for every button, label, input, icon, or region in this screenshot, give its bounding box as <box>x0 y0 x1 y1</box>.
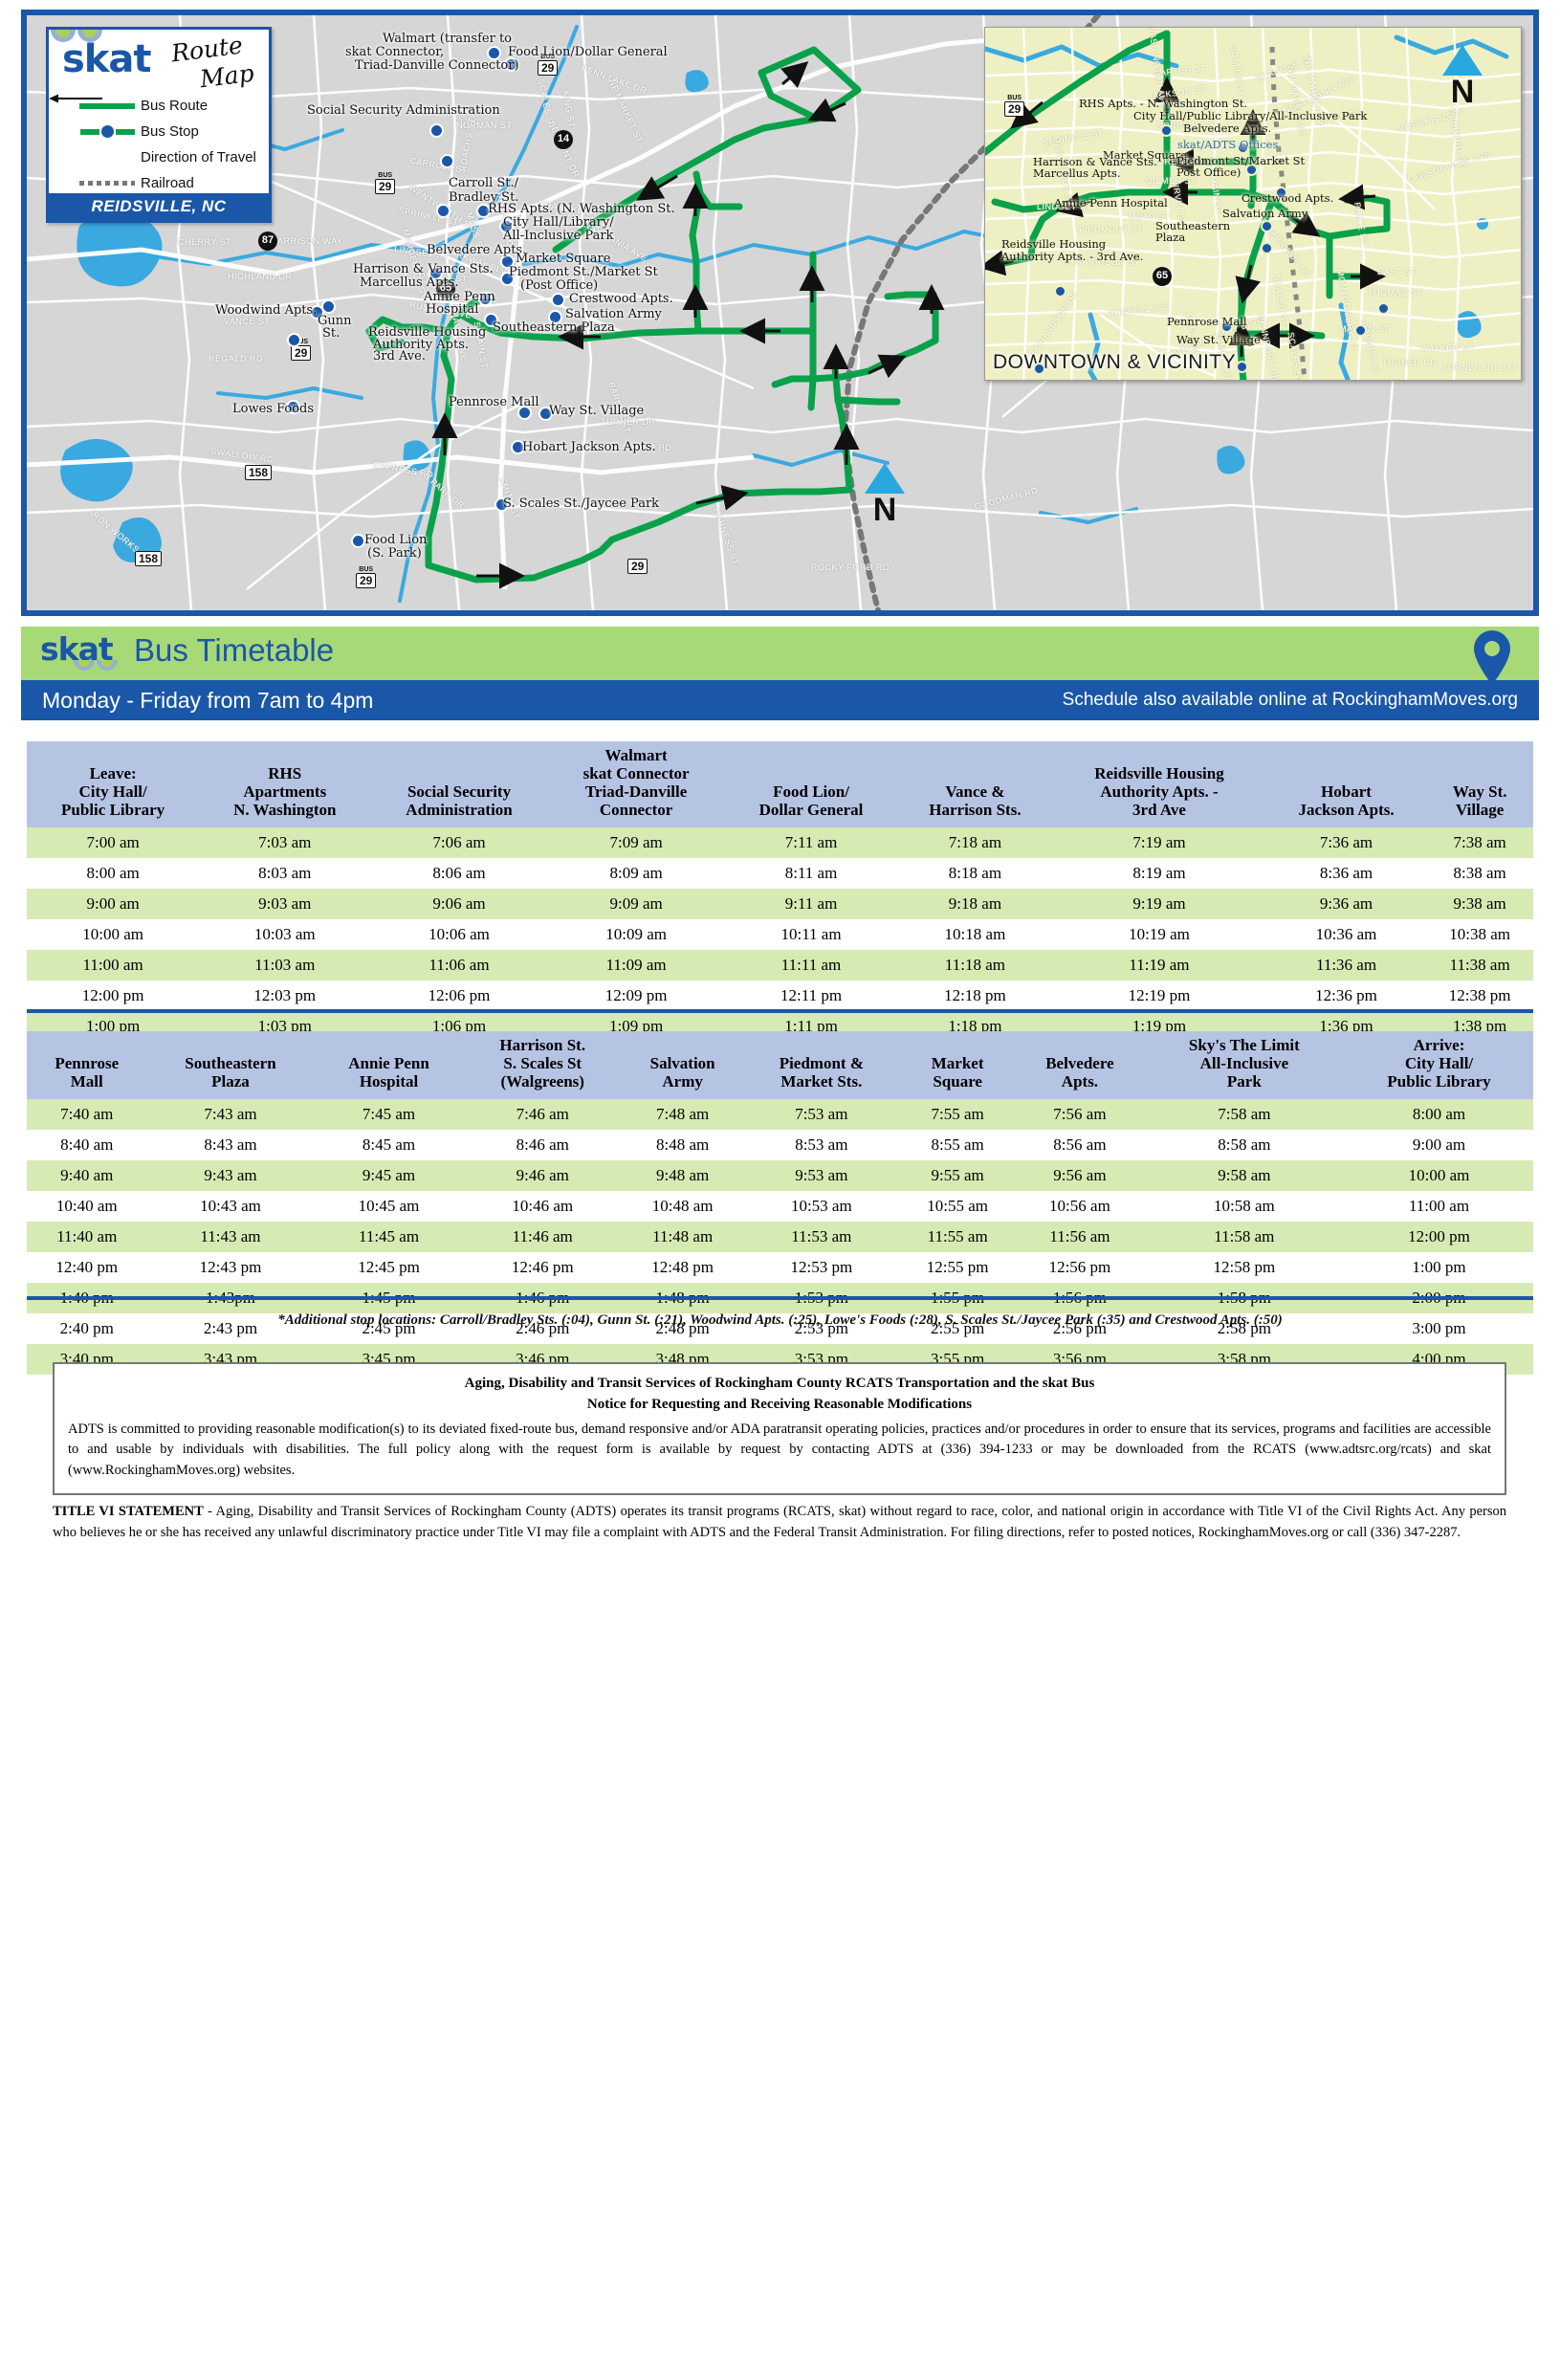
map-place-label: Salvation Army <box>565 308 662 321</box>
time-cell: 9:55 am <box>899 1160 1016 1191</box>
map-place-label: Marcellus Apts. <box>360 276 458 290</box>
time-cell: 7:09 am <box>548 827 725 858</box>
map-place-label: Harrison & Vance Sts. <box>353 263 494 276</box>
map-place-label: Walmart (transfer to <box>383 33 512 46</box>
north-letter: N <box>865 494 905 526</box>
time-cell: 8:58 am <box>1144 1130 1345 1160</box>
column-header: SoutheasternPlaza <box>147 1031 315 1099</box>
time-cell: 7:36 am <box>1266 827 1427 858</box>
time-cell: 11:53 am <box>744 1222 900 1252</box>
north-arrow-inset: N <box>1442 45 1483 108</box>
inset-place-label: Authority Apts. - 3rd Ave. <box>1001 251 1143 262</box>
inset-place-label: Way St. Village <box>1176 334 1261 345</box>
time-cell: 9:03 am <box>199 889 370 919</box>
time-cell: 9:00 am <box>1345 1130 1533 1160</box>
railroad-dotted-icon <box>74 181 141 186</box>
north-arrow-main: N <box>865 463 905 526</box>
time-cell: 9:00 am <box>27 889 199 919</box>
time-cell: 8:45 am <box>314 1130 463 1160</box>
column-header: Annie PennHospital <box>314 1031 463 1099</box>
column-header: RHSApartmentsN. Washington <box>199 741 370 827</box>
time-cell: 7:03 am <box>199 827 370 858</box>
time-cell: 10:09 am <box>548 919 725 950</box>
time-cell: 9:43 am <box>147 1160 315 1191</box>
time-cell: 11:40 am <box>27 1222 147 1252</box>
inset-stop-salvation-army[interactable] <box>1354 324 1367 337</box>
time-cell: 12:53 pm <box>744 1252 900 1283</box>
time-cell: 12:58 pm <box>1144 1252 1345 1283</box>
map-place-label: Hobart Jackson Apts. <box>522 441 656 454</box>
time-cell: 7:58 am <box>1144 1099 1345 1130</box>
time-cell: 11:00 am <box>27 950 199 981</box>
time-cell: 12:45 pm <box>314 1252 463 1283</box>
time-cell: 8:18 am <box>898 858 1053 889</box>
time-cell: 10:48 am <box>622 1191 744 1222</box>
time-cell: 12:56 pm <box>1016 1252 1144 1283</box>
column-header: Piedmont &Market Sts. <box>744 1031 900 1099</box>
map-place-label: (Post Office) <box>520 279 598 293</box>
map-place-label: City Hall/Library/ <box>503 216 614 230</box>
street-name-label: TURNER DR <box>601 417 656 427</box>
time-cell: 8:19 am <box>1052 858 1266 889</box>
time-cell: 9:58 am <box>1144 1160 1345 1191</box>
column-header: Vance &Harrison Sts. <box>898 741 1053 827</box>
timetable-subtitle-bar: Monday - Friday from 7am to 4pm Schedule… <box>21 680 1539 720</box>
map-place-label: Lowes Foods <box>232 403 314 416</box>
route-shield-nc29b: 29 <box>627 559 648 574</box>
time-cell: 7:53 am <box>744 1099 900 1130</box>
skat-logo-dots-icon-2 <box>72 660 120 679</box>
table-row: 9:00 am9:03 am9:06 am9:09 am9:11 am9:18 … <box>27 889 1533 919</box>
time-cell: 7:43 am <box>147 1099 315 1130</box>
map-place-label: 3rd Ave. <box>373 350 426 364</box>
route-shield-nc14: 14 <box>554 130 573 149</box>
map-place-label: St. <box>322 327 340 341</box>
column-header: MarketSquare <box>899 1031 1016 1099</box>
time-cell: 10:00 am <box>27 919 199 950</box>
north-letter-inset: N <box>1442 76 1483 108</box>
time-cell: 11:09 am <box>548 950 725 981</box>
title-vi-label: TITLE VI STATEMENT <box>53 1504 204 1519</box>
column-header: Reidsville HousingAuthority Apts. -3rd A… <box>1052 741 1266 827</box>
map-canvas[interactable]: BUS29 BUS29 BUS29 BUS29 14 158 158 29 87… <box>27 15 1533 610</box>
time-cell: 8:11 am <box>724 858 897 889</box>
inset-street-name-label: TURNER DR EXT <box>1442 363 1519 372</box>
time-cell: 10:03 am <box>199 919 370 950</box>
legend-label-direction: Direction of Travel <box>141 149 256 165</box>
inset-place-label: Salvation Army <box>1222 208 1307 219</box>
time-cell: 9:46 am <box>464 1160 622 1191</box>
inset-route-shield-bus29: BUS29 <box>1004 95 1024 117</box>
downtown-inset-map[interactable]: N BUS29 65 DOWNTOWN & VICINITY CARTER ST… <box>984 27 1522 381</box>
time-cell: 7:00 am <box>27 827 199 858</box>
time-cell: 1:00 pm <box>1345 1252 1533 1283</box>
inset-place-label: Pennrose Mall <box>1167 316 1247 327</box>
time-cell: 10:40 am <box>27 1191 147 1222</box>
street-name-label: HARRISON WAY <box>271 236 343 246</box>
time-cell: 12:55 pm <box>899 1252 1016 1283</box>
time-cell: 8:48 am <box>622 1130 744 1160</box>
time-cell: 12:00 pm <box>27 981 199 1011</box>
column-header: HobartJackson Apts. <box>1266 741 1427 827</box>
time-cell: 9:06 am <box>370 889 547 919</box>
time-cell: 8:40 am <box>27 1130 147 1160</box>
map-place-label: Triad-Danville Connector) <box>355 59 519 73</box>
time-cell: 8:46 am <box>464 1130 622 1160</box>
time-cell: 11:38 am <box>1426 950 1533 981</box>
column-header: BelvedereApts. <box>1016 1031 1144 1099</box>
stop-dot-crestwood[interactable] <box>551 293 565 307</box>
title-vi-statement: TITLE VI STATEMENT - Aging, Disability a… <box>53 1502 1506 1544</box>
legend-title-map: Map <box>198 59 255 94</box>
legend-label-bus-route: Bus Route <box>141 98 208 114</box>
time-cell: 11:19 am <box>1052 950 1266 981</box>
time-cell: 9:36 am <box>1266 889 1427 919</box>
column-header: Harrison St.S. Scales St(Walgreens) <box>464 1031 622 1099</box>
column-header: Social SecurityAdministration <box>370 741 547 827</box>
timetable-title: Bus Timetable <box>134 632 334 669</box>
time-cell: 9:56 am <box>1016 1160 1144 1191</box>
time-cell: 12:18 pm <box>898 981 1053 1011</box>
table-row: 10:40 am10:43 am10:45 am10:46 am10:48 am… <box>27 1191 1533 1222</box>
time-cell: 10:43 am <box>147 1191 315 1222</box>
route-shield-nc158-2: 158 <box>135 551 162 566</box>
time-cell: 10:38 am <box>1426 919 1533 950</box>
street-name-label: HIGHLAND DR <box>228 272 293 281</box>
inset-place-label: Annie Penn Hospital <box>1054 197 1168 209</box>
inset-stop-piedmont-market[interactable] <box>1261 242 1273 254</box>
map-place-label: Southeastern Plaza <box>493 321 615 335</box>
map-place-label: Woodwind Apts. <box>215 304 317 318</box>
route-shield-bus29-3: BUS29 <box>356 566 376 588</box>
time-cell: 11:18 am <box>898 950 1053 981</box>
table-row: 10:00 am10:03 am10:06 am10:09 am10:11 am… <box>27 919 1533 950</box>
time-cell: 10:00 am <box>1345 1160 1533 1191</box>
map-place-label: Piedmont St./Market St <box>509 266 658 279</box>
legend-rows: Bus Route Bus Stop Direction of Travel <box>49 93 269 196</box>
map-place-label: Carroll St./ <box>449 177 518 190</box>
map-place-label: Hospital <box>426 303 478 317</box>
column-header: PennroseMall <box>27 1031 147 1099</box>
column-header: Leave:City Hall/Public Library <box>27 741 199 827</box>
inset-stop-southeastern-plaza[interactable] <box>1236 361 1248 373</box>
time-cell: 7:11 am <box>724 827 897 858</box>
time-cell: 8:56 am <box>1016 1130 1144 1160</box>
map-place-label: Belvedere Apts. <box>427 244 526 257</box>
inset-place-label: RHS Apts. - N. Washington St. <box>1079 98 1247 109</box>
time-cell: 7:46 am <box>464 1099 622 1130</box>
time-cell: 12:43 pm <box>147 1252 315 1283</box>
timetable-service-hours: Monday - Friday from 7am to 4pm <box>42 688 373 714</box>
column-header: SalvationArmy <box>622 1031 744 1099</box>
time-cell: 10:06 am <box>370 919 547 950</box>
time-cell: 10:19 am <box>1052 919 1266 950</box>
reasonable-modifications-notice: Aging, Disability and Transit Services o… <box>53 1362 1506 1495</box>
time-cell: 9:53 am <box>744 1160 900 1191</box>
notice-heading-1: Aging, Disability and Transit Services o… <box>68 1374 1491 1395</box>
north-triangle-inset-icon <box>1442 45 1483 76</box>
table-row: 8:40 am8:43 am8:45 am8:46 am8:48 am8:53 … <box>27 1130 1533 1160</box>
legend-row-railroad: Railroad <box>49 170 269 196</box>
legend-label-railroad: Railroad <box>141 175 194 191</box>
timetable-online-note: Schedule also available online at Rockin… <box>1063 690 1518 711</box>
column-header: Walmartskat ConnectorTriad-DanvilleConne… <box>548 741 725 827</box>
inset-place-label: Belvedere Apts. <box>1183 122 1271 134</box>
time-cell: 12:09 pm <box>548 981 725 1011</box>
route-shield-bus29: BUS29 <box>375 172 395 194</box>
table2-bottom-rule <box>27 1296 1533 1300</box>
inset-street-name-label: EAST ST <box>1377 267 1417 276</box>
table-header-row: Leave:City Hall/Public LibraryRHSApartme… <box>27 741 1533 827</box>
inset-street-name-label: THOMAS ST <box>1368 288 1422 297</box>
stop-dot-rhs-apts[interactable] <box>436 204 450 218</box>
notice-heading-2: Notice for Requesting and Receiving Reas… <box>68 1395 1491 1416</box>
timetable-banner: skat Bus Timetable <box>21 627 1539 680</box>
time-cell: 7:55 am <box>899 1099 1016 1130</box>
time-cell: 9:18 am <box>898 889 1053 919</box>
time-cell: 7:40 am <box>27 1099 147 1130</box>
time-cell: 9:09 am <box>548 889 725 919</box>
time-cell: 10:45 am <box>314 1191 463 1222</box>
inset-place-label: Marcellus Apts. <box>1033 167 1121 179</box>
time-cell: 8:36 am <box>1266 858 1427 889</box>
time-cell: 7:19 am <box>1052 827 1266 858</box>
time-cell: 12:36 pm <box>1266 981 1427 1011</box>
time-cell: 10:11 am <box>724 919 897 950</box>
time-cell: 7:38 am <box>1426 827 1533 858</box>
time-cell: 12:38 pm <box>1426 981 1533 1011</box>
time-cell: 9:45 am <box>314 1160 463 1191</box>
title-vi-body: - Aging, Disability and Transit Services… <box>53 1504 1506 1540</box>
map-place-label: Way St. Village <box>549 405 644 418</box>
time-cell: 8:00 am <box>1345 1099 1533 1130</box>
stop-dot-reidsville-housing[interactable] <box>287 333 301 347</box>
time-cell: 8:53 am <box>744 1130 900 1160</box>
table-row: 7:00 am7:03 am7:06 am7:09 am7:11 am7:18 … <box>27 827 1533 858</box>
street-name-label: VANCE ST <box>224 317 270 326</box>
time-cell: 7:06 am <box>370 827 547 858</box>
time-cell: 11:00 am <box>1345 1191 1533 1222</box>
map-place-label: Crestwood Apts. <box>569 293 673 306</box>
inset-stop-reidsville-housing[interactable] <box>1033 363 1045 375</box>
time-cell: 9:11 am <box>724 889 897 919</box>
time-cell: 8:00 am <box>27 858 199 889</box>
time-cell: 9:38 am <box>1426 889 1533 919</box>
time-cell: 11:55 am <box>899 1222 1016 1252</box>
time-cell: 8:55 am <box>899 1130 1016 1160</box>
time-cell: 11:46 am <box>464 1222 622 1252</box>
time-cell: 8:09 am <box>548 858 725 889</box>
inset-stop-rhs-apts[interactable] <box>1160 124 1173 137</box>
time-cell: 12:46 pm <box>464 1252 622 1283</box>
inset-place-label: Plaza <box>1155 231 1185 243</box>
time-cell: 12:48 pm <box>622 1252 744 1283</box>
legend-city-banner: REIDSVILLE, NC <box>49 193 269 220</box>
table1-bottom-rule <box>27 1009 1533 1013</box>
time-cell: 11:03 am <box>199 950 370 981</box>
time-cell: 11:56 am <box>1016 1222 1144 1252</box>
time-cell: 10:46 am <box>464 1191 622 1222</box>
time-cell: 9:19 am <box>1052 889 1266 919</box>
inset-place-label: Post Office) <box>1176 166 1241 178</box>
map-place-label: Food Lion/Dollar General <box>508 46 668 59</box>
column-header: Way St.Village <box>1426 741 1533 827</box>
time-cell: 12:11 pm <box>724 981 897 1011</box>
time-cell: 10:53 am <box>744 1191 900 1222</box>
inset-place-label: skat/ADTS Offices <box>1177 139 1278 150</box>
bus-stop-dot-icon <box>74 125 141 138</box>
time-cell: 8:38 am <box>1426 858 1533 889</box>
inset-route-shield-nc65: 65 <box>1153 267 1172 286</box>
inset-title: DOWNTOWN & VICINITY <box>993 351 1236 374</box>
time-cell: 12:03 pm <box>199 981 370 1011</box>
time-cell: 10:36 am <box>1266 919 1427 950</box>
time-cell: 11:48 am <box>622 1222 744 1252</box>
time-cell: 8:43 am <box>147 1130 315 1160</box>
inset-street-name-label: TURNER DR <box>1382 358 1438 367</box>
stop-dot-food-lion-s-park[interactable] <box>351 534 365 548</box>
street-name-label: ROCKY FORD RD <box>811 562 890 572</box>
inset-place-label: Crestwood Apts. <box>1241 192 1333 204</box>
inset-place-label: City Hall/Public Library/All-Inclusive P… <box>1133 110 1367 121</box>
inset-stop-market-square[interactable] <box>1261 220 1273 232</box>
time-cell: 12:40 pm <box>27 1252 147 1283</box>
column-header: Food Lion/Dollar General <box>724 741 897 827</box>
notice-body: ADTS is committed to providing reasonabl… <box>68 1420 1491 1482</box>
time-cell: 9:48 am <box>622 1160 744 1191</box>
timetable-footnote: *Additional stop locations: Carroll/Brad… <box>27 1312 1533 1329</box>
map-place-label: RHS Apts. (N. Washington St. <box>488 203 675 216</box>
stop-dot-gunn-st[interactable] <box>321 299 336 314</box>
time-cell: 8:06 am <box>370 858 547 889</box>
skat-logo-dots-icon <box>49 30 104 53</box>
time-cell: 12:00 pm <box>1345 1222 1533 1252</box>
map-place-label: skat Connector, <box>345 46 444 59</box>
inset-place-label: Reidsville Housing <box>1001 238 1106 250</box>
map-pin-icon <box>1470 628 1514 688</box>
map-place-label: Pennrose Mall <box>449 396 539 409</box>
column-header: Arrive:City Hall/Public Library <box>1345 1031 1533 1099</box>
map-place-label: S. Scales St./Jaycee Park <box>503 497 659 511</box>
map-place-label: (S. Park) <box>367 547 422 561</box>
map-place-label: Food Lion <box>364 534 427 547</box>
time-cell: 11:45 am <box>314 1222 463 1252</box>
legend-logo: skat Route Map <box>49 30 269 99</box>
time-cell: 12:19 pm <box>1052 981 1266 1011</box>
legend-row-direction: Direction of Travel <box>49 144 269 170</box>
time-cell: 11:43 am <box>147 1222 315 1252</box>
table-row: 12:40 pm12:43 pm12:45 pm12:46 pm12:48 pm… <box>27 1252 1533 1283</box>
table-row: 11:40 am11:43 am11:45 am11:46 am11:48 am… <box>27 1222 1533 1252</box>
route-shield-nc158: 158 <box>245 465 272 480</box>
map-place-label: Market Square <box>516 253 610 266</box>
map-place-label: All-Inclusive Park <box>503 230 613 243</box>
north-triangle-icon <box>865 463 905 494</box>
stop-dot-social-security[interactable] <box>429 123 444 138</box>
street-name-label: REGALD RD <box>209 354 263 364</box>
time-cell: 10:56 am <box>1016 1191 1144 1222</box>
map-legend: skat Route Map Bus Route <box>46 27 272 223</box>
time-cell: 12:06 pm <box>370 981 547 1011</box>
inset-street-name-label: PIEDMONT ST <box>1079 225 1143 234</box>
column-header: Sky's The LimitAll-InclusivePark <box>1144 1031 1345 1099</box>
time-cell: 8:03 am <box>199 858 370 889</box>
table-header-row: PennroseMallSoutheasternPlazaAnnie PennH… <box>27 1031 1533 1099</box>
inset-stop-harrison-vance[interactable] <box>1054 285 1066 297</box>
table-row: 11:00 am11:03 am11:06 am11:09 am11:11 am… <box>27 950 1533 981</box>
legend-row-bus-stop: Bus Stop <box>49 119 269 144</box>
time-cell: 11:06 am <box>370 950 547 981</box>
time-cell: 10:55 am <box>899 1191 1016 1222</box>
time-cell: 10:18 am <box>898 919 1053 950</box>
time-cell: 7:48 am <box>622 1099 744 1130</box>
time-cell: 11:36 am <box>1266 950 1427 981</box>
stop-dot-carroll-bradley[interactable] <box>440 154 454 168</box>
time-cell: 7:45 am <box>314 1099 463 1130</box>
time-cell: 11:58 am <box>1144 1222 1345 1252</box>
inset-street-name-label: WALKER ST <box>1420 343 1474 353</box>
time-cell: 7:18 am <box>898 827 1053 858</box>
table-row: 8:00 am8:03 am8:06 am8:09 am8:11 am8:18 … <box>27 858 1533 889</box>
inset-stop-crestwood[interactable] <box>1377 302 1390 315</box>
table-row: 7:40 am7:43 am7:45 am7:46 am7:48 am7:53 … <box>27 1099 1533 1130</box>
map-place-label: Social Security Administration <box>307 104 500 118</box>
time-cell: 7:56 am <box>1016 1099 1144 1130</box>
time-cell: 10:58 am <box>1144 1191 1345 1222</box>
route-shield-nc87: 87 <box>258 231 277 251</box>
time-cell: 11:11 am <box>724 950 897 981</box>
table-row: 9:40 am9:43 am9:45 am9:46 am9:48 am9:53 … <box>27 1160 1533 1191</box>
legend-label-bus-stop: Bus Stop <box>141 123 199 140</box>
table-row: 12:00 pm12:03 pm12:06 pm12:09 pm12:11 pm… <box>27 981 1533 1011</box>
time-cell: 9:40 am <box>27 1160 147 1191</box>
street-name-label: CHERRY ST <box>178 237 231 247</box>
route-map-panel: BUS29 BUS29 BUS29 BUS29 14 158 158 29 87… <box>21 10 1539 616</box>
